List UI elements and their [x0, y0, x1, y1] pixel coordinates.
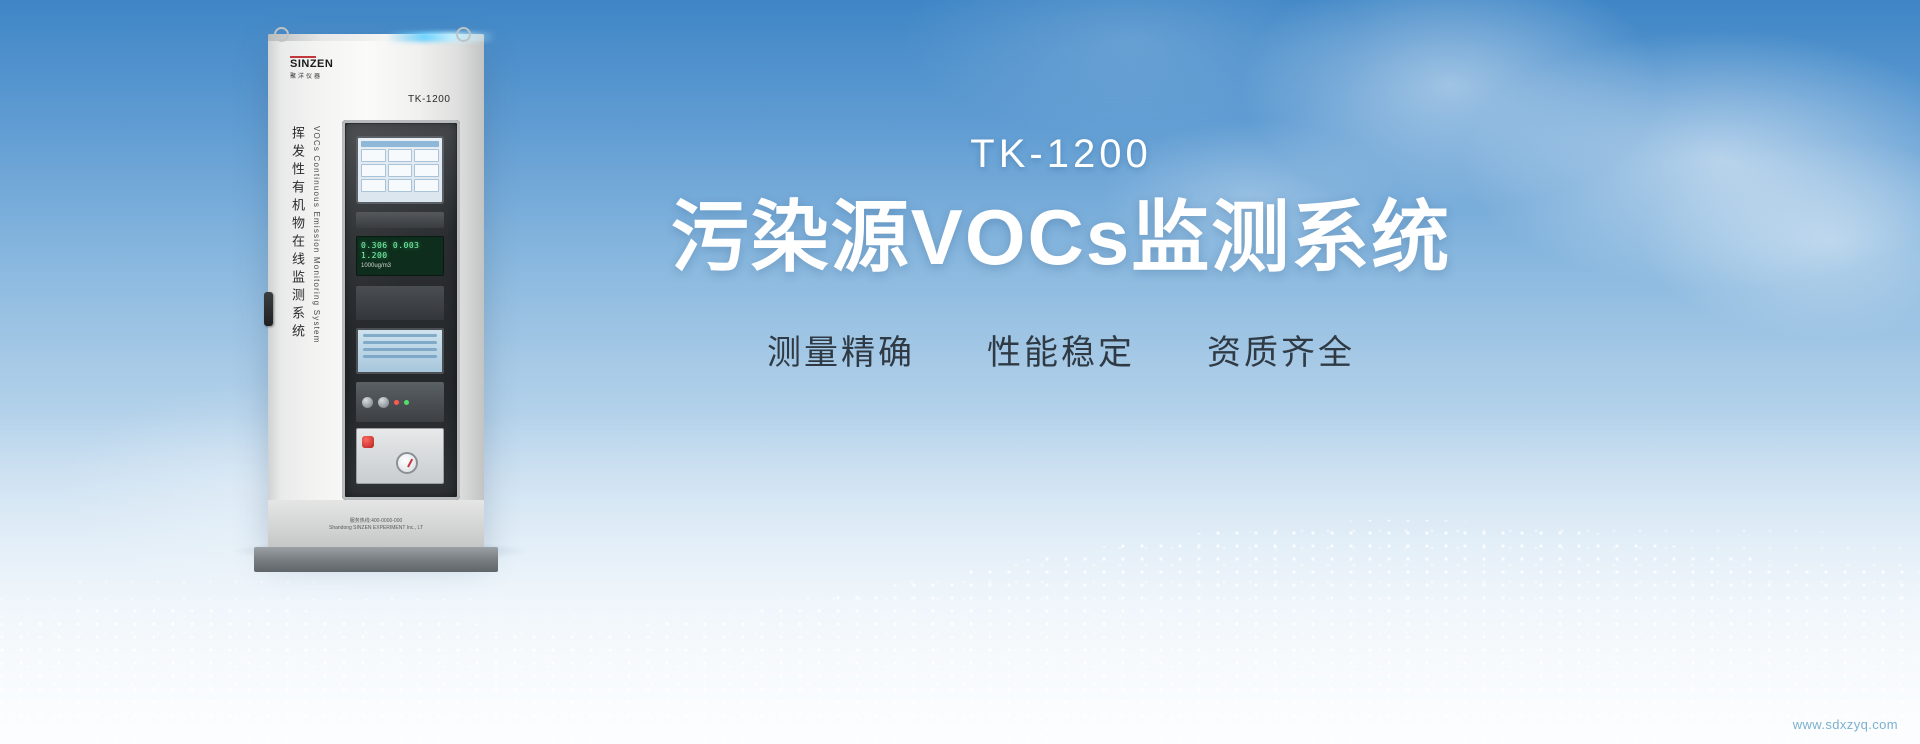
status-led-green-icon	[404, 400, 409, 405]
control-panel[interactable]	[356, 382, 444, 422]
hmi-tile[interactable]	[361, 149, 386, 162]
hmi-tile[interactable]	[388, 149, 413, 162]
cabinet-nameplate: 服务热线:400-0000-000 Shandong SINZEN EXPERI…	[288, 518, 464, 532]
feature-item-3: 资质齐全	[1207, 325, 1355, 374]
banner-stage: SINZEN 聚洋仪器 TK-1200 挥发性有机物在线监测系统 VOCs Co…	[0, 0, 1920, 744]
display-line	[363, 355, 437, 358]
hmi-tile[interactable]	[414, 164, 439, 177]
nameplate-line-2: Shandong SINZEN EXPERIMENT Inc., LT	[288, 525, 464, 532]
display-line	[363, 348, 437, 351]
cabinet-vertical-en-text: VOCs Continuous Emission Monitoring Syst…	[312, 126, 321, 346]
emergency-stop-button[interactable]	[362, 436, 374, 448]
analyzer-module	[356, 286, 444, 320]
control-knob-icon[interactable]	[378, 397, 389, 408]
analyzer-cabinet: SINZEN 聚洋仪器 TK-1200 挥发性有机物在线监测系统 VOCs Co…	[268, 34, 484, 548]
hero-title: 污染源VOCs监测系统	[556, 195, 1566, 279]
nameplate-line-1: 服务热线:400-0000-000	[288, 518, 464, 525]
lifting-ring-icon	[274, 27, 289, 42]
hmi-tile[interactable]	[414, 149, 439, 162]
hero-model-label: TK-1200	[556, 132, 1566, 177]
cabinet-model-plate: TK-1200	[408, 94, 451, 105]
module-strip	[356, 212, 444, 228]
control-knob-icon[interactable]	[362, 397, 373, 408]
hero-feature-list: 测量精确 性能稳定 资质齐全	[556, 325, 1566, 374]
cabinet-door-handle[interactable]	[264, 292, 273, 326]
hmi-tile[interactable]	[361, 164, 386, 177]
cabinet-vertical-cn-text: 挥发性有机物在线监测系统	[288, 126, 306, 426]
hero-text-block: TK-1200 污染源VOCs监测系统 测量精确 性能稳定 资质齐全	[556, 132, 1566, 374]
lcd-secondary-value: 1000ug/m3	[357, 261, 443, 271]
hmi-tile[interactable]	[414, 179, 439, 192]
site-watermark: www.sdxzyq.com	[1793, 717, 1898, 732]
cloud-decoration	[1640, 140, 1920, 340]
feature-item-2: 性能稳定	[987, 325, 1135, 374]
lcd-primary-value: 0.306 0.003 1.200	[357, 237, 443, 261]
brand-cn-text: 聚洋仪器	[290, 71, 354, 80]
hmi-tile[interactable]	[361, 179, 386, 192]
display-line	[363, 341, 437, 344]
secondary-display	[356, 328, 444, 374]
cloud-decoration	[900, 0, 1360, 140]
status-led-red-icon	[394, 400, 399, 405]
hmi-tile[interactable]	[388, 164, 413, 177]
cabinet-glow-highlight	[386, 32, 496, 42]
feature-item-1: 测量精确	[767, 325, 915, 374]
hmi-title-bar	[361, 141, 439, 147]
hmi-touch-screen[interactable]	[356, 136, 444, 204]
hmi-tile-grid	[361, 149, 439, 192]
brand-logo: SINZEN 聚洋仪器	[290, 56, 354, 80]
lcd-readout: 0.306 0.003 1.200 1000ug/m3	[356, 236, 444, 276]
pressure-gauge-icon	[396, 452, 418, 474]
lifting-ring-icon	[456, 27, 471, 42]
brand-mark-text: SINZEN	[290, 59, 354, 70]
hmi-tile[interactable]	[388, 179, 413, 192]
cabinet-base-plinth	[254, 547, 498, 572]
display-line	[363, 334, 437, 337]
cabinet-glass-door[interactable]: 0.306 0.003 1.200 1000ug/m3	[342, 120, 460, 500]
